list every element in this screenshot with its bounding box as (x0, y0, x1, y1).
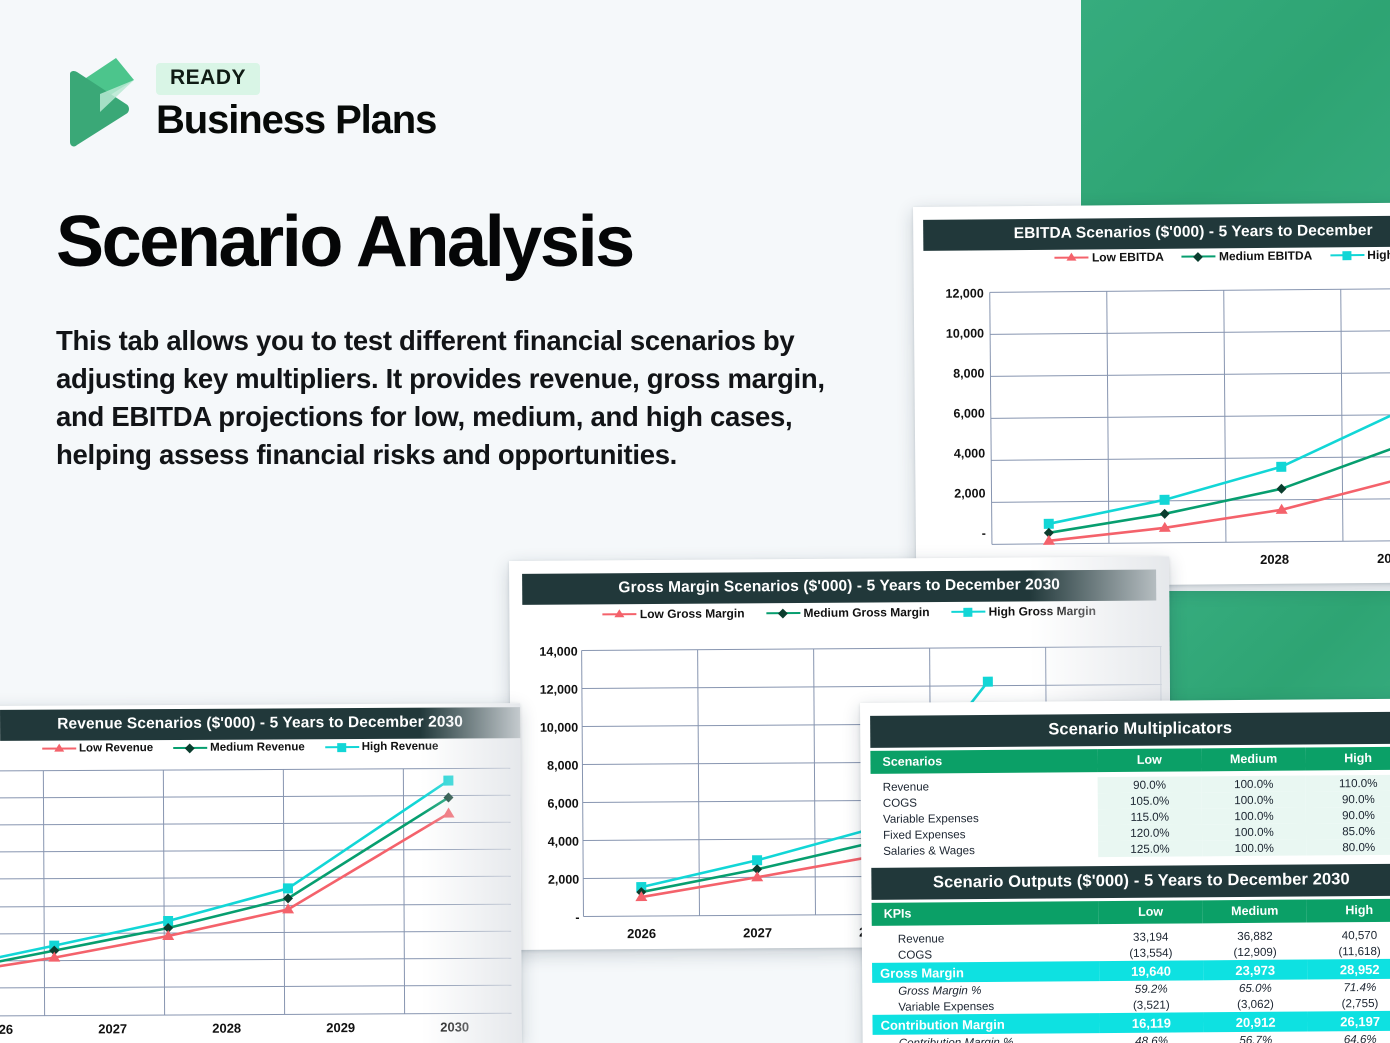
row-label: Contribution Margin (872, 1013, 1099, 1035)
ebitda-legend: Low EBITDA Medium EBITDA High EBITDA (1033, 244, 1390, 268)
legend-item-low-gross-margin: Low Gross Margin (603, 606, 745, 621)
play-triangle-logo-icon (56, 56, 138, 148)
legend-swatch-low-revenue (42, 744, 76, 754)
scenario-multiplicators-table: Scenarios Low Medium High Revenue 90.0% … (870, 747, 1390, 859)
row-label: Gross Margin % (872, 981, 1099, 999)
legend-item-medium-revenue: Medium Revenue (173, 741, 305, 754)
col-header-low: Low (1098, 900, 1202, 924)
x-tick: 2028 (1260, 552, 1289, 567)
scenario-outputs-table: KPIs Low Medium High Revenue 33,194 36,8… (872, 899, 1390, 1043)
cell-medium: 36,882 (1203, 927, 1307, 944)
decorative-green-block-top (1081, 0, 1390, 206)
legend-label: Low Gross Margin (640, 606, 745, 621)
col-header-medium: Medium (1203, 899, 1307, 923)
x-tick: 2030 (398, 1019, 512, 1035)
decorative-green-block-mid (1168, 591, 1390, 701)
cell-low: 33,194 (1099, 928, 1203, 945)
gross-margin-legend: Low Gross Margin Medium Gross Margin Hig… (609, 601, 1089, 624)
row-label: Fixed Expenses (871, 825, 1098, 843)
legend-item-medium-gross-margin: Medium Gross Margin (766, 605, 929, 620)
x-tick: 2028 (170, 1020, 284, 1036)
legend-swatch-low-gross-margin (603, 609, 637, 619)
legend-label: Low Revenue (79, 742, 153, 754)
cell-medium: (12,909) (1203, 943, 1307, 960)
legend-item-low-ebitda: Low EBITDA (1055, 250, 1164, 265)
row-label: Variable Expenses (872, 997, 1099, 1015)
cell-low: 125.0% (1098, 840, 1202, 857)
legend-item-high-ebitda: High EBITDA (1330, 247, 1390, 262)
ebitda-x-axis-labels: 2028 2029 (992, 550, 1390, 554)
ebitda-y-axis-labels: 12,000 10,000 8,000 6,000 4,000 2,000 - (922, 286, 986, 539)
ebitda-plot-area (990, 288, 1390, 544)
col-header-kpis: KPIs (872, 901, 1099, 926)
multiplicators-banner: Scenario Multiplicators (870, 712, 1390, 748)
legend-swatch-medium-gross-margin (766, 608, 800, 618)
x-tick: 2029 (284, 1020, 398, 1036)
legend-label: High Gross Margin (989, 604, 1096, 619)
revenue-chart-card: Revenue Scenarios ($'000) - 5 Years to D… (0, 703, 522, 1043)
page-title: Scenario Analysis (56, 206, 633, 278)
legend-item-medium-ebitda: Medium EBITDA (1182, 249, 1312, 264)
legend-label: High Revenue (362, 741, 439, 753)
legend-swatch-low-ebitda (1055, 252, 1089, 262)
cell-low: 16,119 (1099, 1012, 1203, 1033)
legend-item-low-revenue: Low Revenue (42, 742, 153, 755)
legend-item-high-revenue: High Revenue (325, 741, 439, 754)
slide-canvas: READY Business Plans Scenario Analysis T… (0, 0, 1390, 1043)
cell-high: 90.0% (1306, 807, 1390, 824)
row-label: COGS (871, 793, 1098, 811)
legend-swatch-high-ebitda (1330, 250, 1364, 260)
cell-medium: 56.7% (1204, 1031, 1308, 1043)
cell-medium: 100.0% (1202, 839, 1306, 856)
cell-medium: (3,062) (1203, 995, 1307, 1012)
cell-high: 64.6% (1308, 1031, 1390, 1043)
ebitda-chart-card: EBITDA Scenarios ($'000) - 5 Years to De… (913, 202, 1390, 587)
table-row: Salaries & Wages 125.0% 100.0% 80.0% (871, 839, 1390, 859)
col-header-low: Low (1097, 748, 1201, 772)
legend-swatch-high-revenue (325, 742, 359, 752)
x-tick: 2027 (56, 1021, 170, 1037)
legend-label: High EBITDA (1367, 247, 1390, 262)
brand-logo: READY Business Plans (56, 56, 436, 148)
x-tick: 2029 (1377, 551, 1390, 566)
x-tick: 2026 (0, 1022, 56, 1038)
gross-margin-y-axis-labels: 14,000 12,000 10,000 8,000 6,000 4,000 2… (516, 645, 580, 923)
row-label: Salaries & Wages (871, 841, 1098, 859)
row-label: COGS (872, 945, 1099, 963)
ready-badge: READY (156, 63, 260, 94)
legend-swatch-medium-revenue (173, 743, 207, 753)
col-header-medium: Medium (1201, 748, 1305, 772)
cell-high: 85.0% (1306, 823, 1390, 840)
row-label: Gross Margin (872, 961, 1099, 983)
cell-high: 28,952 (1307, 959, 1390, 980)
col-header-high: High (1306, 747, 1390, 771)
cell-high: 40,570 (1307, 927, 1390, 944)
revenue-legend: Low Revenue Medium Revenue High Revenue (30, 737, 450, 759)
legend-swatch-medium-ebitda (1182, 251, 1216, 261)
cell-medium: 100.0% (1202, 776, 1306, 793)
cell-medium: 100.0% (1202, 807, 1306, 824)
cell-medium: 100.0% (1202, 792, 1306, 809)
x-tick: 2026 (584, 926, 700, 942)
legend-label: Medium Revenue (210, 741, 305, 753)
row-label: Revenue (871, 777, 1098, 795)
x-tick: 2027 (700, 925, 816, 941)
cell-low: 90.0% (1097, 776, 1201, 793)
legend-swatch-high-gross-margin (952, 607, 986, 617)
cell-low: 115.0% (1098, 808, 1202, 825)
cell-high: 110.0% (1306, 775, 1390, 792)
col-header-high: High (1307, 899, 1390, 923)
row-label: Variable Expenses (871, 809, 1098, 827)
outputs-banner: Scenario Outputs ($'000) - 5 Years to De… (871, 864, 1390, 900)
cell-high: 71.4% (1307, 979, 1390, 996)
brand-name: Business Plans (156, 99, 436, 141)
cell-low: 120.0% (1098, 824, 1202, 841)
revenue-x-axis-labels: 2026 2027 2028 2029 2030 (0, 1019, 512, 1037)
revenue-plot-area (0, 768, 512, 1016)
row-label: Contribution Margin % (873, 1033, 1100, 1043)
cell-low: 48.6% (1099, 1032, 1203, 1043)
cell-low: 59.2% (1099, 980, 1203, 997)
cell-low: (13,554) (1099, 944, 1203, 961)
cell-medium: 100.0% (1202, 823, 1306, 840)
page-description: This tab allows you to test different fi… (56, 322, 856, 474)
legend-label: Low EBITDA (1092, 250, 1164, 265)
gross-margin-chart-title: Gross Margin Scenarios ($'000) - 5 Years… (522, 569, 1156, 604)
legend-label: Medium Gross Margin (803, 605, 929, 620)
legend-item-high-gross-margin: High Gross Margin (952, 604, 1096, 619)
cell-high: 26,197 (1308, 1011, 1390, 1032)
cell-medium: 23,973 (1203, 959, 1307, 980)
cell-high: (11,618) (1307, 943, 1390, 960)
cell-medium: 65.0% (1203, 979, 1307, 996)
cell-high: 90.0% (1306, 791, 1390, 808)
cell-low: 19,640 (1099, 960, 1203, 981)
cell-low: (3,521) (1099, 996, 1203, 1013)
row-label: Revenue (872, 929, 1099, 947)
cell-medium: 20,912 (1203, 1011, 1307, 1032)
col-header-scenarios: Scenarios (870, 749, 1097, 774)
cell-low: 105.0% (1098, 792, 1202, 809)
legend-label: Medium EBITDA (1219, 249, 1312, 264)
cell-high: (2,755) (1308, 995, 1390, 1012)
cell-high: 80.0% (1306, 839, 1390, 856)
